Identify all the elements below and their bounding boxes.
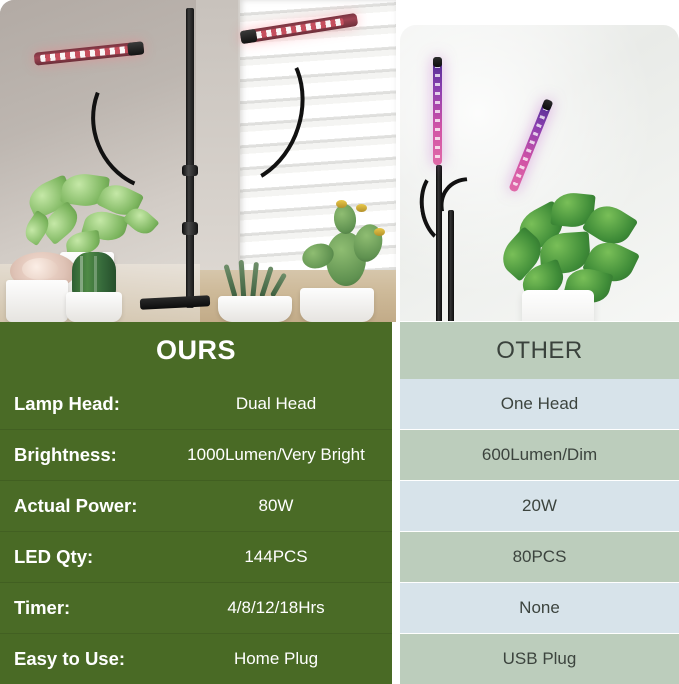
led-strip-cap xyxy=(433,57,442,67)
table-row: 600Lumen/Dim xyxy=(400,430,679,481)
table-row: Lamp Head: Dual Head xyxy=(0,379,392,430)
table-row: None xyxy=(400,583,679,634)
ours-column: OURS Lamp Head: Dual Head Brightness: 10… xyxy=(0,322,392,683)
row-label: Easy to Use: xyxy=(0,648,168,670)
led-diodes-icon xyxy=(435,65,440,159)
table-row: LED Qty: 144PCS xyxy=(0,532,392,583)
table-row: Timer: 4/8/12/18Hrs xyxy=(0,583,392,634)
row-label: Actual Power: xyxy=(0,495,168,517)
table-row: One Head xyxy=(400,379,679,430)
table-row: Actual Power: 80W xyxy=(0,481,392,532)
other-value: 600Lumen/Dim xyxy=(482,445,597,465)
pole-adjust-knob xyxy=(182,165,198,176)
comparison-table: OURS Lamp Head: Dual Head Brightness: 10… xyxy=(0,322,679,683)
led-light-strip xyxy=(433,57,442,165)
ours-value: Home Plug xyxy=(168,649,392,669)
ours-product-photo xyxy=(0,0,396,322)
table-row: 20W xyxy=(400,481,679,532)
cactus-pot xyxy=(66,292,122,322)
cactus-flower-icon xyxy=(374,228,385,236)
ours-value: Dual Head xyxy=(168,394,392,414)
other-value: None xyxy=(519,598,560,618)
row-label: LED Qty: xyxy=(0,546,168,568)
ours-value: 4/8/12/18Hrs xyxy=(168,598,392,618)
led-light-strip xyxy=(508,98,553,192)
other-product-photo xyxy=(396,0,679,322)
prickly-pear-plant xyxy=(300,198,388,298)
table-row: 80PCS xyxy=(400,532,679,583)
cactus-flower-icon xyxy=(356,204,367,212)
led-bar-cap xyxy=(127,41,144,56)
other-value: 20W xyxy=(522,496,557,516)
succulent-cluster-pot xyxy=(218,296,292,322)
succulent-pot xyxy=(6,280,68,322)
ours-value: 144PCS xyxy=(168,547,392,567)
other-header-label: OTHER xyxy=(496,337,583,365)
table-row: Brightness: 1000Lumen/Very Bright xyxy=(0,430,392,481)
pole-adjust-knob xyxy=(182,222,198,235)
row-label: Lamp Head: xyxy=(0,393,168,415)
row-label: Brightness: xyxy=(0,444,168,466)
other-photo-card xyxy=(400,25,679,321)
philodendron-pot xyxy=(522,290,594,321)
other-value: USB Plug xyxy=(503,649,577,669)
other-column-header: OTHER xyxy=(400,322,679,379)
ours-value: 1000Lumen/Very Bright xyxy=(168,445,392,465)
row-label: Timer: xyxy=(0,597,168,619)
cactus-flower-icon xyxy=(336,200,347,208)
ours-column-header: OURS xyxy=(0,322,392,379)
led-bar-cap xyxy=(240,29,258,44)
prickly-pear-pot xyxy=(300,288,374,322)
other-value: 80PCS xyxy=(513,547,567,567)
table-row: USB Plug xyxy=(400,634,679,684)
ours-header-label: OURS xyxy=(156,335,236,366)
column-divider xyxy=(392,322,400,683)
lamp-pole xyxy=(436,165,442,321)
lamp-pole xyxy=(448,210,454,321)
lamp-pole xyxy=(186,8,194,308)
ours-value: 80W xyxy=(168,496,392,516)
product-comparison-page: OURS Lamp Head: Dual Head Brightness: 10… xyxy=(0,0,679,683)
table-row: Easy to Use: Home Plug xyxy=(0,634,392,684)
other-column: OTHER One Head 600Lumen/Dim 20W 80PCS No… xyxy=(400,322,679,683)
philodendron-plant xyxy=(496,181,642,303)
other-value: One Head xyxy=(501,394,579,414)
photo-row xyxy=(0,0,679,322)
led-diodes-icon xyxy=(512,107,548,187)
